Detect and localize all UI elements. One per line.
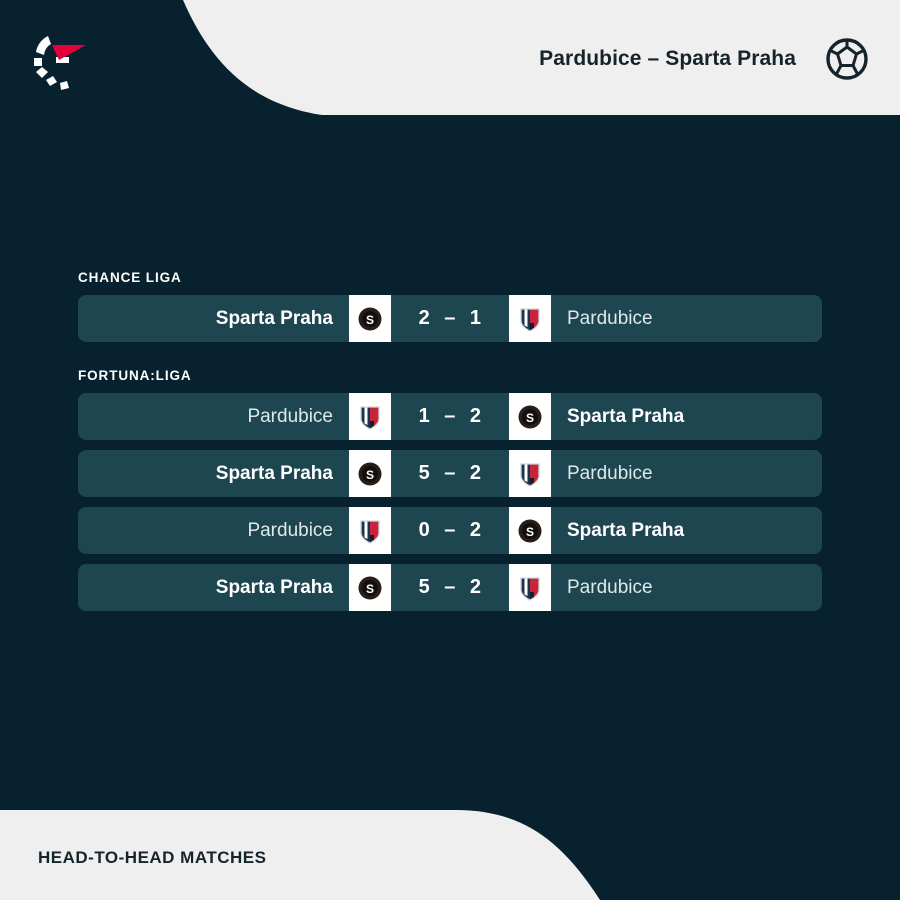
away-score: 2 [470, 576, 482, 599]
home-score: 5 [419, 462, 431, 485]
away-crest-cell: S [509, 507, 551, 554]
football-icon [824, 36, 870, 82]
away-score: 2 [470, 462, 482, 485]
head-to-head-list: CHANCE LIGA Sparta Praha S 2 – 1 [0, 130, 900, 800]
home-score: 5 [419, 576, 431, 599]
home-crest-cell [349, 393, 391, 440]
home-crest-cell [349, 507, 391, 554]
table-row[interactable]: Pardubice 1 – 2 [78, 393, 822, 440]
footer-title: HEAD-TO-HEAD MATCHES [38, 848, 266, 868]
home-team-name: Sparta Praha [78, 450, 349, 497]
score-dash: – [444, 519, 456, 542]
league-label: CHANCE LIGA [78, 270, 822, 285]
away-team-name: Pardubice [551, 450, 822, 497]
svg-text:S: S [366, 468, 374, 482]
score-cell: 5 – 2 [391, 450, 509, 497]
home-team-name: Sparta Praha [78, 295, 349, 342]
away-crest-cell [509, 295, 551, 342]
pardubice-crest-icon [517, 305, 543, 333]
header: Pardubice – Sparta Praha [0, 0, 900, 118]
league-group-chance-liga: CHANCE LIGA Sparta Praha S 2 – 1 [78, 270, 822, 352]
score-dash: – [444, 307, 456, 330]
flashscore-logo-icon[interactable] [28, 26, 94, 92]
table-row[interactable]: Sparta Praha S 5 – 2 [78, 564, 822, 611]
home-crest-cell: S [349, 450, 391, 497]
home-score: 0 [419, 519, 431, 542]
footer-background-shape [0, 790, 900, 900]
away-score: 2 [470, 405, 482, 428]
svg-text:S: S [366, 313, 374, 327]
home-team-name: Sparta Praha [78, 564, 349, 611]
home-score: 1 [419, 405, 431, 428]
score-dash: – [444, 405, 456, 428]
header-right: Pardubice – Sparta Praha [539, 0, 870, 118]
home-team-name: Pardubice [78, 393, 349, 440]
away-team-name: Pardubice [551, 295, 822, 342]
away-score: 2 [470, 519, 482, 542]
pardubice-crest-icon [357, 517, 383, 545]
away-team-name: Sparta Praha [551, 507, 822, 554]
svg-text:S: S [526, 411, 534, 425]
league-label: FORTUNA:LIGA [78, 368, 822, 383]
pardubice-crest-icon [357, 403, 383, 431]
score-dash: – [444, 462, 456, 485]
score-cell: 2 – 1 [391, 295, 509, 342]
table-row[interactable]: Sparta Praha S 2 – 1 [78, 295, 822, 342]
away-crest-cell: S [509, 393, 551, 440]
away-team-name: Sparta Praha [551, 393, 822, 440]
home-crest-cell: S [349, 295, 391, 342]
table-row[interactable]: Pardubice 0 – 2 [78, 507, 822, 554]
sparta-praha-crest-icon: S [517, 517, 543, 545]
infographic-card: Pardubice – Sparta Praha CHANCE LIGA Spa… [0, 0, 900, 900]
away-score: 1 [470, 307, 482, 330]
score-cell: 1 – 2 [391, 393, 509, 440]
home-team-name: Pardubice [78, 507, 349, 554]
pardubice-crest-icon [517, 460, 543, 488]
svg-text:S: S [366, 582, 374, 596]
away-team-name: Pardubice [551, 564, 822, 611]
score-cell: 0 – 2 [391, 507, 509, 554]
away-crest-cell [509, 564, 551, 611]
sparta-praha-crest-icon: S [357, 460, 383, 488]
score-dash: – [444, 576, 456, 599]
league-group-fortuna-liga: FORTUNA:LIGA Pardubice 1 – 2 [78, 368, 822, 621]
score-cell: 5 – 2 [391, 564, 509, 611]
svg-text:S: S [526, 525, 534, 539]
table-row[interactable]: Sparta Praha S 5 – 2 [78, 450, 822, 497]
sparta-praha-crest-icon: S [357, 574, 383, 602]
page-title: Pardubice – Sparta Praha [539, 47, 796, 71]
away-crest-cell [509, 450, 551, 497]
home-score: 2 [419, 307, 431, 330]
sparta-praha-crest-icon: S [517, 403, 543, 431]
sparta-praha-crest-icon: S [357, 305, 383, 333]
pardubice-crest-icon [517, 574, 543, 602]
home-crest-cell: S [349, 564, 391, 611]
